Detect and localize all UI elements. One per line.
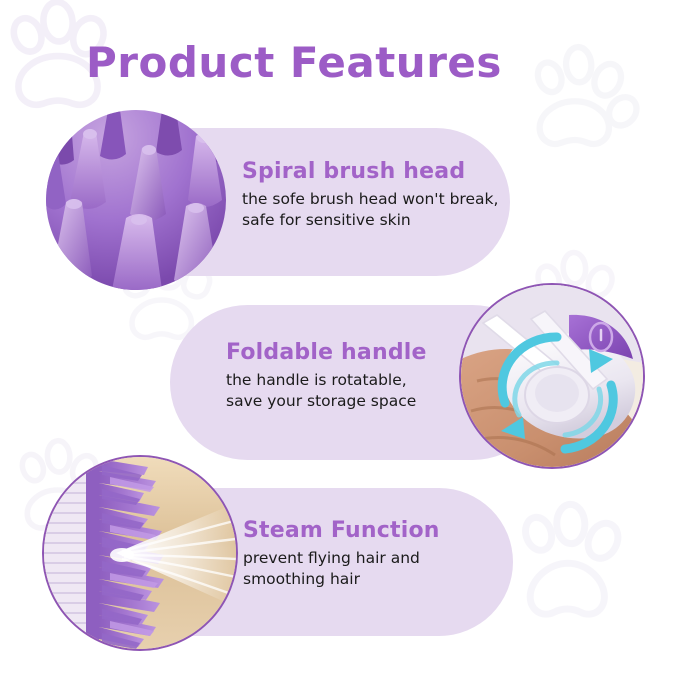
spiral-brush-head-closeup-photo: [46, 110, 226, 290]
feature-text-3: Steam Function prevent flying hair and s…: [243, 519, 513, 589]
paw-print-bottom-right: [512, 496, 652, 636]
feature-heading-1: Spiral brush head: [242, 160, 512, 184]
feature-text-1: Spiral brush head the sofe brush head wo…: [242, 160, 512, 230]
steam-function-photo: [42, 455, 238, 651]
paw-print-top-right: [522, 42, 648, 168]
feature-heading-3: Steam Function: [243, 519, 513, 543]
foldable-handle-photo: [459, 283, 645, 469]
page-title: Product Features: [86, 38, 502, 87]
feature-body-3: prevent flying hair and smoothing hair: [243, 548, 513, 589]
product-features-infographic: Product Features: [0, 0, 679, 679]
feature-body-1: the sofe brush head won't break, safe fo…: [242, 189, 512, 230]
